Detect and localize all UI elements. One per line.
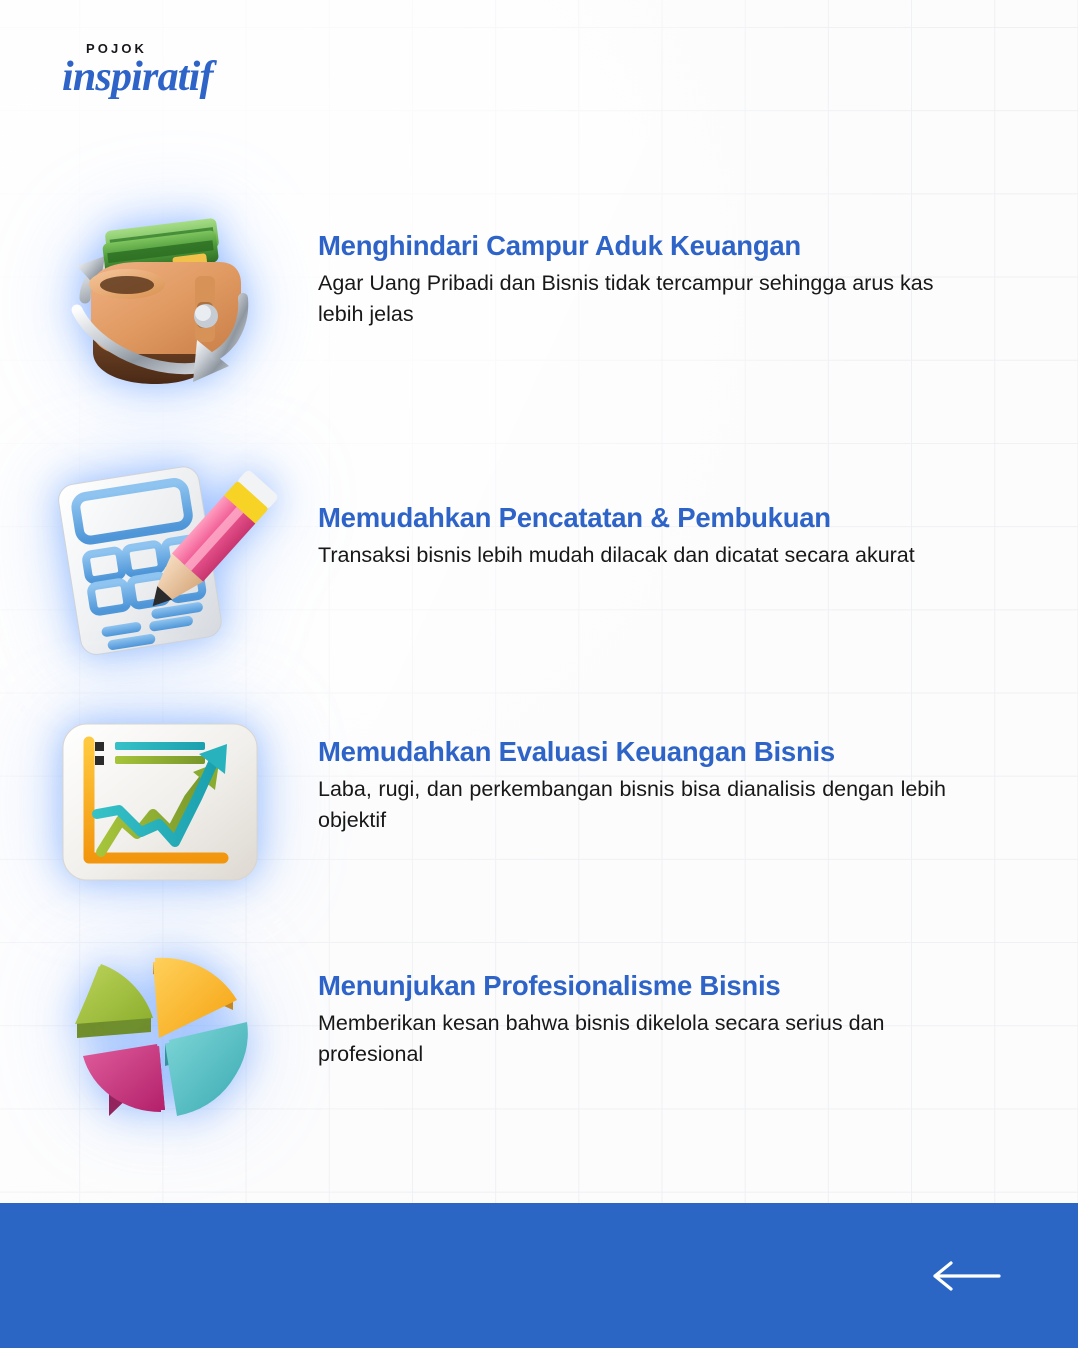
benefit-item: Menunjukan Profesionalisme Bisnis Member… xyxy=(0,898,1078,1132)
benefit-title: Memudahkan Pencatatan & Pembukuan xyxy=(318,502,968,534)
benefit-title: Menunjukan Profesionalisme Bisnis xyxy=(318,970,968,1002)
benefit-description: Memberikan kesan bahwa bisnis dikelola s… xyxy=(318,1008,946,1069)
benefit-description: Transaksi bisnis lebih mudah dilacak dan… xyxy=(318,540,946,571)
arrow-left-icon[interactable] xyxy=(927,1258,1003,1294)
benefit-item: Menghindari Campur Aduk Keuangan Agar Ua… xyxy=(0,196,1078,430)
benefit-list: Menghindari Campur Aduk Keuangan Agar Ua… xyxy=(0,196,1078,1132)
line-chart-growth-icon xyxy=(47,702,272,902)
benefit-title: Memudahkan Evaluasi Keuangan Bisnis xyxy=(318,736,968,768)
benefit-icon-cell xyxy=(0,664,318,898)
pie-chart-icon xyxy=(47,940,272,1140)
calculator-pencil-icon xyxy=(47,456,272,656)
footer-bar xyxy=(0,1203,1078,1348)
benefit-icon-cell xyxy=(0,430,318,664)
benefit-item: Memudahkan Pencatatan & Pembukuan Transa… xyxy=(0,430,1078,664)
benefit-text-cell: Menghindari Campur Aduk Keuangan Agar Ua… xyxy=(318,230,968,329)
benefit-description: Agar Uang Pribadi dan Bisnis tidak terca… xyxy=(318,268,946,329)
benefit-text-cell: Memudahkan Evaluasi Keuangan Bisnis Laba… xyxy=(318,736,968,835)
brand-logo: POJOK inspiratif xyxy=(62,42,322,112)
benefit-title: Menghindari Campur Aduk Keuangan xyxy=(318,230,968,262)
benefit-description: Laba, rugi, dan perkembangan bisnis bisa… xyxy=(318,774,946,835)
benefit-text-cell: Menunjukan Profesionalisme Bisnis Member… xyxy=(318,970,968,1069)
benefit-item: Memudahkan Evaluasi Keuangan Bisnis Laba… xyxy=(0,664,1078,898)
brand-name: inspiratif xyxy=(62,56,322,98)
benefit-text-cell: Memudahkan Pencatatan & Pembukuan Transa… xyxy=(318,502,968,571)
wallet-cash-exchange-icon xyxy=(47,206,272,406)
benefit-icon-cell xyxy=(0,196,318,430)
benefit-icon-cell xyxy=(0,898,318,1132)
